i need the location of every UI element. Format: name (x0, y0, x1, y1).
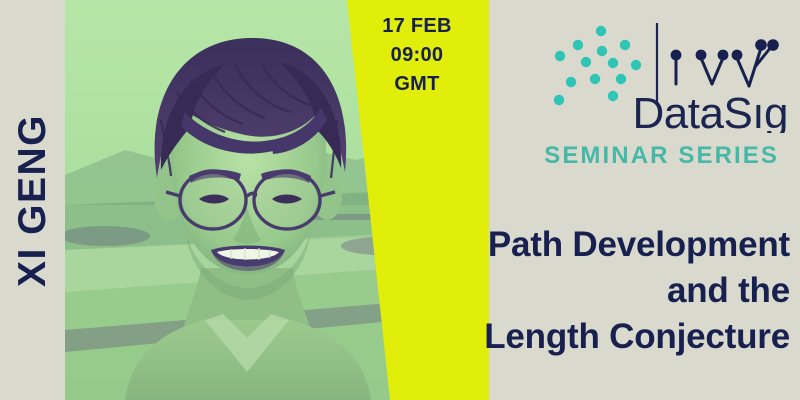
talk-title-line-1: Path Development (230, 222, 790, 268)
event-time: 09:00 (352, 41, 482, 70)
datasig-logo: DataSıg (545, 18, 790, 133)
event-datetime: 17 FEB 09:00 GMT (352, 12, 482, 99)
seminar-poster: XI GENG 17 FEB 09:00 GMT (0, 0, 800, 400)
event-date: 17 FEB (352, 12, 482, 41)
talk-title: Path Development and the Length Conjectu… (230, 222, 790, 360)
speaker-name: XI GENG (0, 0, 65, 400)
datasig-dots-icon (554, 26, 641, 105)
speaker-name-rail: XI GENG (0, 0, 65, 400)
event-timezone: GMT (352, 70, 482, 99)
talk-title-line-3: Length Conjecture (230, 314, 790, 360)
seminar-series-label: SEMINAR SERIES (489, 142, 789, 170)
ivy-marks (671, 39, 779, 86)
datasig-wordmark: DataSıg (633, 89, 788, 133)
speaker-name-text: XI GENG (13, 113, 52, 286)
talk-title-line-2: and the (230, 268, 790, 314)
